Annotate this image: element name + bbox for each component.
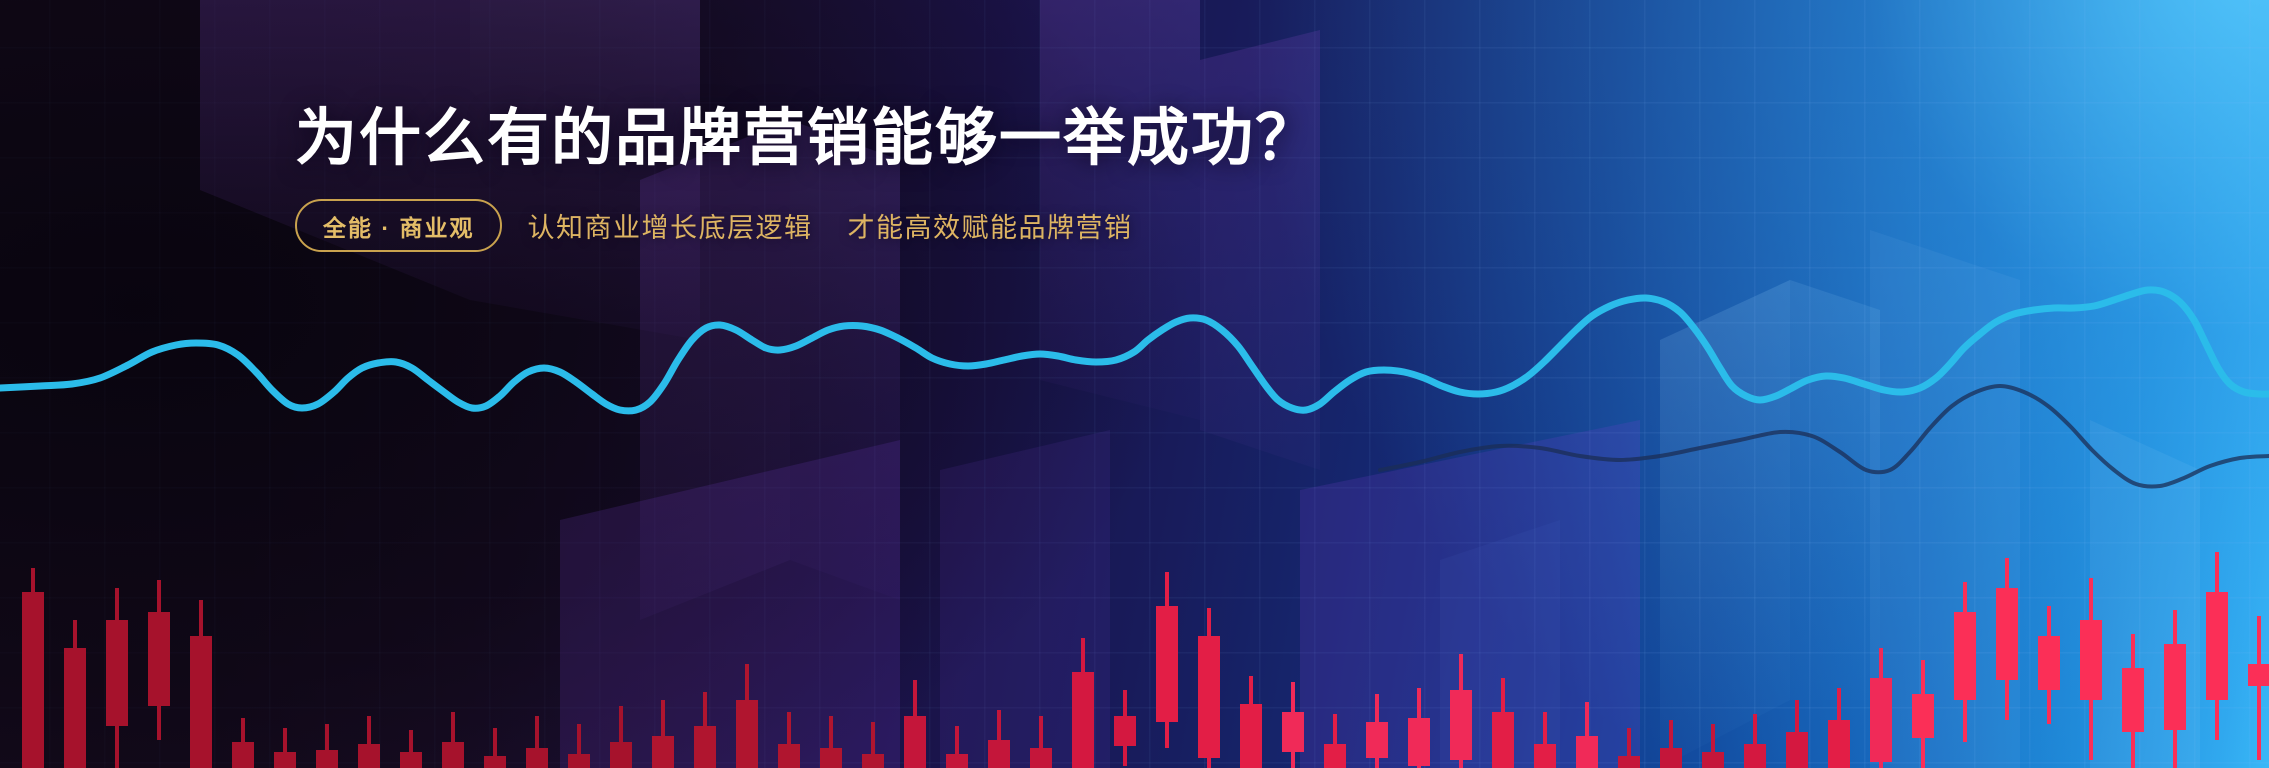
candle-body [1114, 716, 1136, 746]
candle-body [1996, 588, 2018, 680]
candle-body [22, 592, 44, 768]
candle-body [2122, 668, 2144, 732]
candle-body [190, 636, 212, 768]
primary-trend-line [0, 290, 2269, 411]
candle-body [1366, 722, 1388, 758]
candle-body [358, 744, 380, 768]
page-title: 为什么有的品牌营销能够一举成功？ [295, 104, 1319, 173]
candle-body [526, 748, 548, 768]
candle-body [1072, 672, 1094, 768]
candle-body [1198, 636, 1220, 758]
candle-body [736, 700, 758, 768]
banner-text-block: 为什么有的品牌营销能够一举成功？ 全能 · 商业观 认知商业增长底层逻辑 才能高… [295, 104, 1319, 252]
candle-body [1828, 720, 1850, 768]
candle-body [1534, 744, 1556, 768]
candle-body [1282, 712, 1304, 752]
subtitle-part-1: 认知商业增长底层逻辑 [527, 213, 812, 243]
candle-body [904, 716, 926, 768]
candle-body [274, 752, 296, 768]
subtitle: 认知商业增长底层逻辑 才能高效赋能品牌营销 [527, 206, 1132, 245]
subtitle-part-2: 才能高效赋能品牌营销 [847, 213, 1132, 243]
candle-body [1324, 744, 1346, 768]
candle-body [232, 742, 254, 768]
secondary-trend-line [1380, 386, 2269, 487]
marketing-banner: 为什么有的品牌营销能够一举成功？ 全能 · 商业观 认知商业增长底层逻辑 才能高… [0, 0, 2269, 768]
status-badge: 全能 · 商业观 [295, 199, 502, 252]
candle-body [652, 736, 674, 768]
candle-body [820, 748, 842, 768]
candle-body [988, 740, 1010, 768]
candle-body [1240, 704, 1262, 768]
candle-body [2080, 620, 2102, 700]
candle-body [1954, 612, 1976, 700]
candle-body [862, 754, 884, 768]
candle-body [316, 750, 338, 768]
candle-body [610, 742, 632, 768]
subtitle-row: 全能 · 商业观 认知商业增长底层逻辑 才能高效赋能品牌营销 [295, 199, 1319, 252]
candle-body [1408, 718, 1430, 766]
candle-body [1870, 678, 1892, 762]
candlestick-series [22, 552, 2269, 768]
candle-body [1492, 712, 1514, 768]
candle-body [2206, 592, 2228, 700]
candle-body [1912, 694, 1934, 738]
candle-body [442, 742, 464, 768]
candle-body [1576, 736, 1598, 768]
candle-body [568, 754, 590, 768]
candle-body [1702, 752, 1724, 768]
candle-body [1450, 690, 1472, 760]
candle-body [694, 726, 716, 768]
candle-body [484, 756, 506, 768]
candle-body [2038, 636, 2060, 690]
candle-body [1156, 606, 1178, 722]
candle-body [2164, 644, 2186, 730]
candle-body [106, 620, 128, 726]
candle-body [2248, 664, 2269, 686]
candle-body [1660, 748, 1682, 768]
candle-body [1786, 732, 1808, 768]
candle-body [778, 744, 800, 768]
candle-wick [2257, 616, 2261, 760]
candle-body [64, 648, 86, 768]
candle-body [946, 754, 968, 768]
candle-body [148, 612, 170, 706]
candle-body [1744, 744, 1766, 768]
candle-body [400, 752, 422, 768]
candle-body [1618, 756, 1640, 768]
candle-body [1030, 748, 1052, 768]
